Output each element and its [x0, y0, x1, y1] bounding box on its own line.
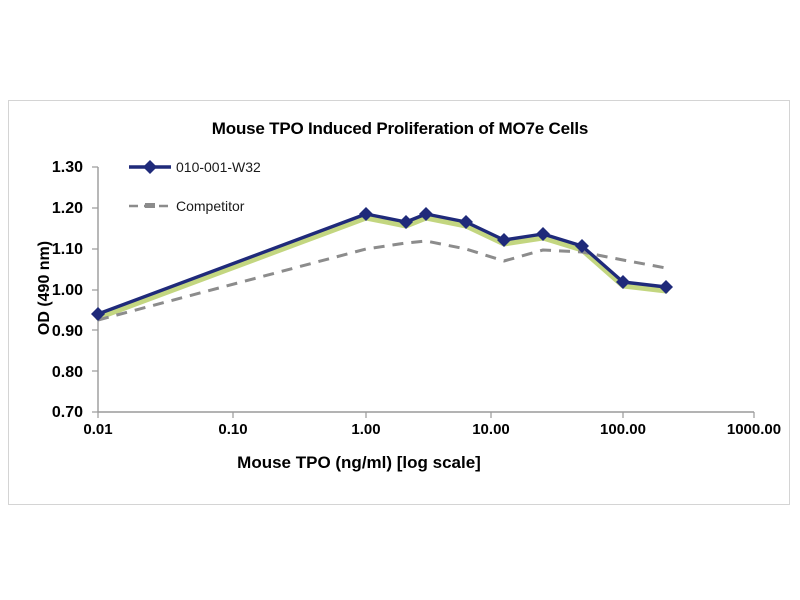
chart-page: Mouse TPO Induced Proliferation of MO7e …: [0, 0, 800, 600]
legend-label-series2: Competitor: [176, 198, 244, 214]
legend-marker-diamond-icon: [143, 160, 157, 174]
y-axis-ticks: [92, 167, 98, 412]
series-010-001-w32-line[interactable]: [98, 214, 666, 314]
x-axis-ticks: [98, 412, 754, 418]
chart-frame: Mouse TPO Induced Proliferation of MO7e …: [8, 100, 790, 505]
series-shadow-line: [98, 218, 666, 318]
series-010-001-w32-markers[interactable]: [91, 207, 673, 321]
legend: [129, 160, 171, 208]
plot-area: [9, 101, 791, 506]
legend-label-series1: 010-001-W32: [176, 159, 261, 175]
legend-marker-dash-icon: [145, 203, 155, 208]
